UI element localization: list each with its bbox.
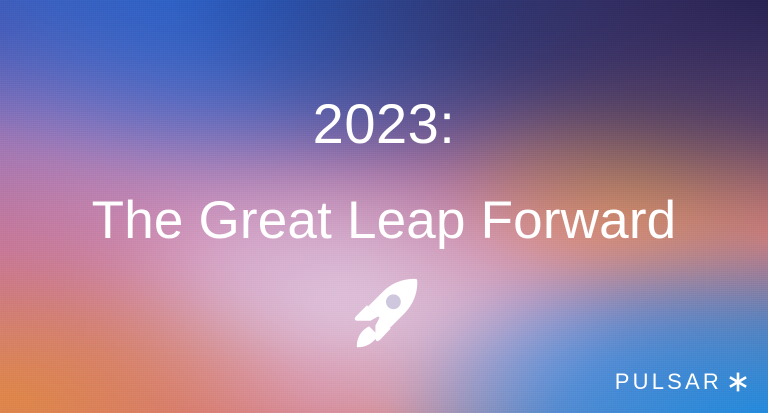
brand-logo: PULSAR [615,371,748,393]
headline-subtitle: The Great Leap Forward [0,194,768,247]
headline-block: 2023: The Great Leap Forward [0,96,768,247]
brand-name: PULSAR [615,371,722,393]
headline-year: 2023: [0,96,768,152]
promo-banner: 2023: The Great Leap Forward [0,0,768,413]
banner-content: 2023: The Great Leap Forward [0,0,768,413]
asterisk-star-icon [728,371,748,393]
rocket-icon [348,276,420,350]
